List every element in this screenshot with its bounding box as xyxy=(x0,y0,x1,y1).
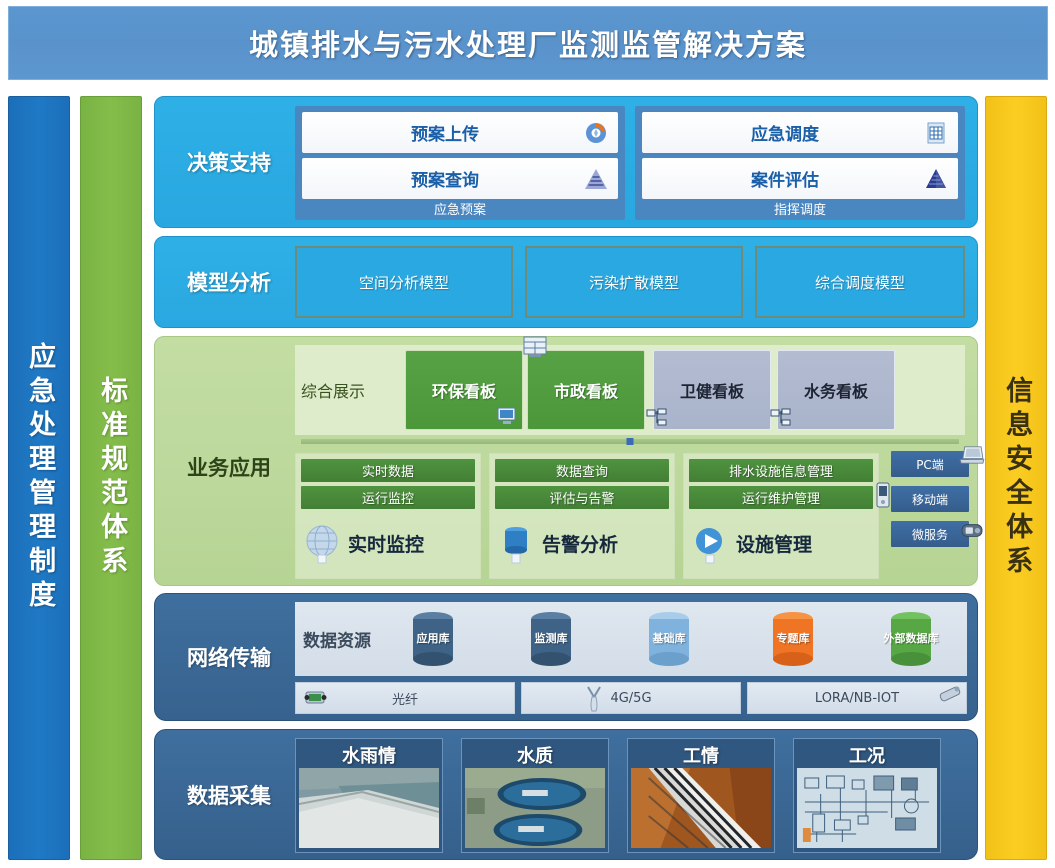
layer-network-transmission: 网络传输 数据资源 应用库 xyxy=(154,593,978,721)
pillar-emergency-management: 应急处理管理制度 xyxy=(8,96,70,860)
database-thematic[interactable]: 专题库 xyxy=(765,610,821,668)
business-chip[interactable]: 评估与告警 xyxy=(495,486,669,509)
mobile-phone-icon xyxy=(873,482,893,508)
data-resource-panel: 数据资源 应用库 监测库 xyxy=(295,602,967,676)
board-health[interactable]: 卫健看板 xyxy=(653,350,771,430)
layer-model-label: 模型分析 xyxy=(165,237,293,327)
acquisition-card-rainfall[interactable]: 水雨情 xyxy=(295,738,443,853)
device-chip-label: 微服务 xyxy=(912,526,948,543)
board-label: 环保看板 xyxy=(432,378,496,402)
business-chip[interactable]: 运行监控 xyxy=(301,486,475,509)
business-column-alarm: 数据查询 评估与告警 告警分析 xyxy=(489,453,675,579)
sedimentation-tank-photo xyxy=(465,768,605,848)
scada-schematic-photo xyxy=(797,768,937,848)
network-link-fiber[interactable]: 光纤 xyxy=(295,682,515,714)
monitor-icon xyxy=(496,406,518,426)
pipeline-trench-photo xyxy=(631,768,771,848)
play-circle-icon xyxy=(689,522,731,564)
acquisition-card-title: 水雨情 xyxy=(299,742,439,768)
network-icon xyxy=(646,408,668,428)
pillar-standards-system: 标准规范体系 xyxy=(80,96,142,860)
grid-table-icon xyxy=(923,120,949,146)
database-monitoring[interactable]: 监测库 xyxy=(523,610,579,668)
layer-decision-support: 决策支持 预案上传 预案查询 xyxy=(154,96,978,228)
decision-item-label: 应急调度 xyxy=(642,120,958,145)
database-label: 专题库 xyxy=(765,633,821,645)
antenna-icon xyxy=(580,684,608,712)
model-box-label: 污染扩散模型 xyxy=(589,272,679,293)
decision-item-case-assessment[interactable]: 案件评估 xyxy=(642,158,958,199)
solution-architecture-diagram: 城镇排水与污水处理厂监测监管解决方案 应急处理管理制度 标准规范体系 信息安全体… xyxy=(0,0,1055,868)
board-label: 卫健看板 xyxy=(680,378,744,402)
device-chip-pc[interactable]: PC端 xyxy=(891,451,969,477)
decision-group-caption: 指挥调度 xyxy=(635,199,965,218)
layer-network-label: 网络传输 xyxy=(165,594,293,720)
layer-model-analysis: 模型分析 空间分析模型 污染扩散模型 综合调度模型 xyxy=(154,236,978,328)
business-feature-facility-management[interactable]: 设施管理 xyxy=(689,514,873,572)
decision-item-plan-upload[interactable]: 预案上传 xyxy=(302,112,618,153)
business-feature-realtime-monitoring[interactable]: 实时监控 xyxy=(301,514,475,572)
page-title: 城镇排水与污水处理厂监测监管解决方案 xyxy=(9,7,1047,79)
model-box-label: 综合调度模型 xyxy=(815,272,905,293)
layer-decision-label: 决策支持 xyxy=(165,97,293,227)
pillar-information-security: 信息安全体系 xyxy=(985,96,1047,860)
business-chip[interactable]: 运行维护管理 xyxy=(689,486,873,509)
business-feature-label: 告警分析 xyxy=(542,530,618,557)
layer-data-label: 数据采集 xyxy=(165,730,293,859)
pillar-security-label: 信息安全体系 xyxy=(1002,376,1030,580)
pillar-emergency-label: 应急处理管理制度 xyxy=(25,342,53,614)
overview-boards-panel: 综合展示 环保看板 市政看板 xyxy=(295,345,965,435)
network-link-list: 光纤 4G/5G LORA/NB-IOT xyxy=(295,682,967,714)
model-box-spatial-analysis[interactable]: 空间分析模型 xyxy=(295,246,513,318)
pyramid-dark-icon xyxy=(923,166,949,192)
decision-item-label: 预案查询 xyxy=(302,166,618,191)
layer-business-label: 业务应用 xyxy=(165,407,293,527)
database-application[interactable]: 应用库 xyxy=(405,610,461,668)
handheld-device-icon xyxy=(959,521,985,541)
decision-group-caption: 应急预案 xyxy=(295,199,625,218)
database-label: 外部数据库 xyxy=(883,633,939,645)
model-box-integrated-dispatch[interactable]: 综合调度模型 xyxy=(755,246,965,318)
database-icon xyxy=(495,522,537,564)
network-link-label: 光纤 xyxy=(392,689,418,708)
business-chip[interactable]: 排水设施信息管理 xyxy=(689,459,873,482)
decision-group-command-dispatch: 应急调度 案件评估 指挥调度 xyxy=(635,106,965,220)
sensor-module-icon xyxy=(936,683,964,705)
acquisition-card-title: 水质 xyxy=(465,742,605,768)
network-icon xyxy=(770,408,792,428)
business-feature-alarm-analysis[interactable]: 告警分析 xyxy=(495,514,669,572)
database-label: 基础库 xyxy=(641,633,697,645)
acquisition-card-water-quality[interactable]: 水质 xyxy=(461,738,609,853)
device-chip-label: 移动端 xyxy=(912,491,948,508)
board-label: 水务看板 xyxy=(804,378,868,402)
acquisition-card-operating-condition[interactable]: 工况 xyxy=(793,738,941,853)
model-box-label: 空间分析模型 xyxy=(359,272,449,293)
business-feature-label: 设施管理 xyxy=(736,530,812,557)
acquisition-card-title: 工况 xyxy=(797,742,937,768)
fiber-cable-icon xyxy=(302,687,330,709)
device-chip-mobile[interactable]: 移动端 xyxy=(891,486,969,512)
database-basic[interactable]: 基础库 xyxy=(641,610,697,668)
globe-icon xyxy=(301,522,343,564)
business-column-facility: 排水设施信息管理 运行维护管理 设施管理 xyxy=(683,453,879,579)
network-link-4g5g[interactable]: 4G/5G xyxy=(521,682,741,714)
laptop-icon xyxy=(959,445,985,465)
board-label: 市政看板 xyxy=(554,378,618,402)
overview-label: 综合展示 xyxy=(301,378,365,402)
river-channel-photo xyxy=(299,768,439,848)
board-municipal[interactable]: 市政看板 xyxy=(527,350,645,430)
board-environment[interactable]: 环保看板 xyxy=(405,350,523,430)
database-label: 应用库 xyxy=(405,633,461,645)
decision-item-emergency-dispatch[interactable]: 应急调度 xyxy=(642,112,958,153)
window-icon xyxy=(522,335,548,359)
business-column-monitoring: 实时数据 运行监控 实时监控 xyxy=(295,453,481,579)
decision-item-label: 案件评估 xyxy=(642,166,958,191)
decision-group-emergency-plan: 预案上传 预案查询 应急预案 xyxy=(295,106,625,220)
refresh-circle-icon xyxy=(583,120,609,146)
business-chip[interactable]: 数据查询 xyxy=(495,459,669,482)
device-chip-microservice[interactable]: 微服务 xyxy=(891,521,969,547)
network-link-label: LORA/NB-IOT xyxy=(815,691,899,706)
header-band: 城镇排水与污水处理厂监测监管解决方案 xyxy=(8,6,1048,80)
network-link-label: 4G/5G xyxy=(610,691,651,706)
pyramid-light-icon xyxy=(583,166,609,192)
layer-data-acquisition: 数据采集 水雨情 水质 xyxy=(154,729,978,860)
decision-item-plan-query[interactable]: 预案查询 xyxy=(302,158,618,199)
acquisition-card-project-status[interactable]: 工情 xyxy=(627,738,775,853)
database-external[interactable]: 外部数据库 xyxy=(883,610,939,668)
acquisition-card-title: 工情 xyxy=(631,742,771,768)
device-chip-label: PC端 xyxy=(916,456,944,473)
layer-business-application: 业务应用 综合展示 环保看板 市政看板 xyxy=(154,336,978,586)
device-channel-list: PC端 移动端 微服务 xyxy=(891,451,969,556)
model-box-pollution-diffusion[interactable]: 污染扩散模型 xyxy=(525,246,743,318)
board-water-affairs[interactable]: 水务看板 xyxy=(777,350,895,430)
boards-divider xyxy=(301,439,959,444)
business-chip[interactable]: 实时数据 xyxy=(301,459,475,482)
center-layer-stack: 决策支持 预案上传 预案查询 xyxy=(154,96,978,860)
data-resource-label: 数据资源 xyxy=(303,627,371,652)
pillar-standard-label: 标准规范体系 xyxy=(97,376,125,580)
decision-item-label: 预案上传 xyxy=(302,120,618,145)
network-link-lora-nbiot[interactable]: LORA/NB-IOT xyxy=(747,682,967,714)
database-label: 监测库 xyxy=(523,633,579,645)
business-feature-label: 实时监控 xyxy=(348,530,424,557)
